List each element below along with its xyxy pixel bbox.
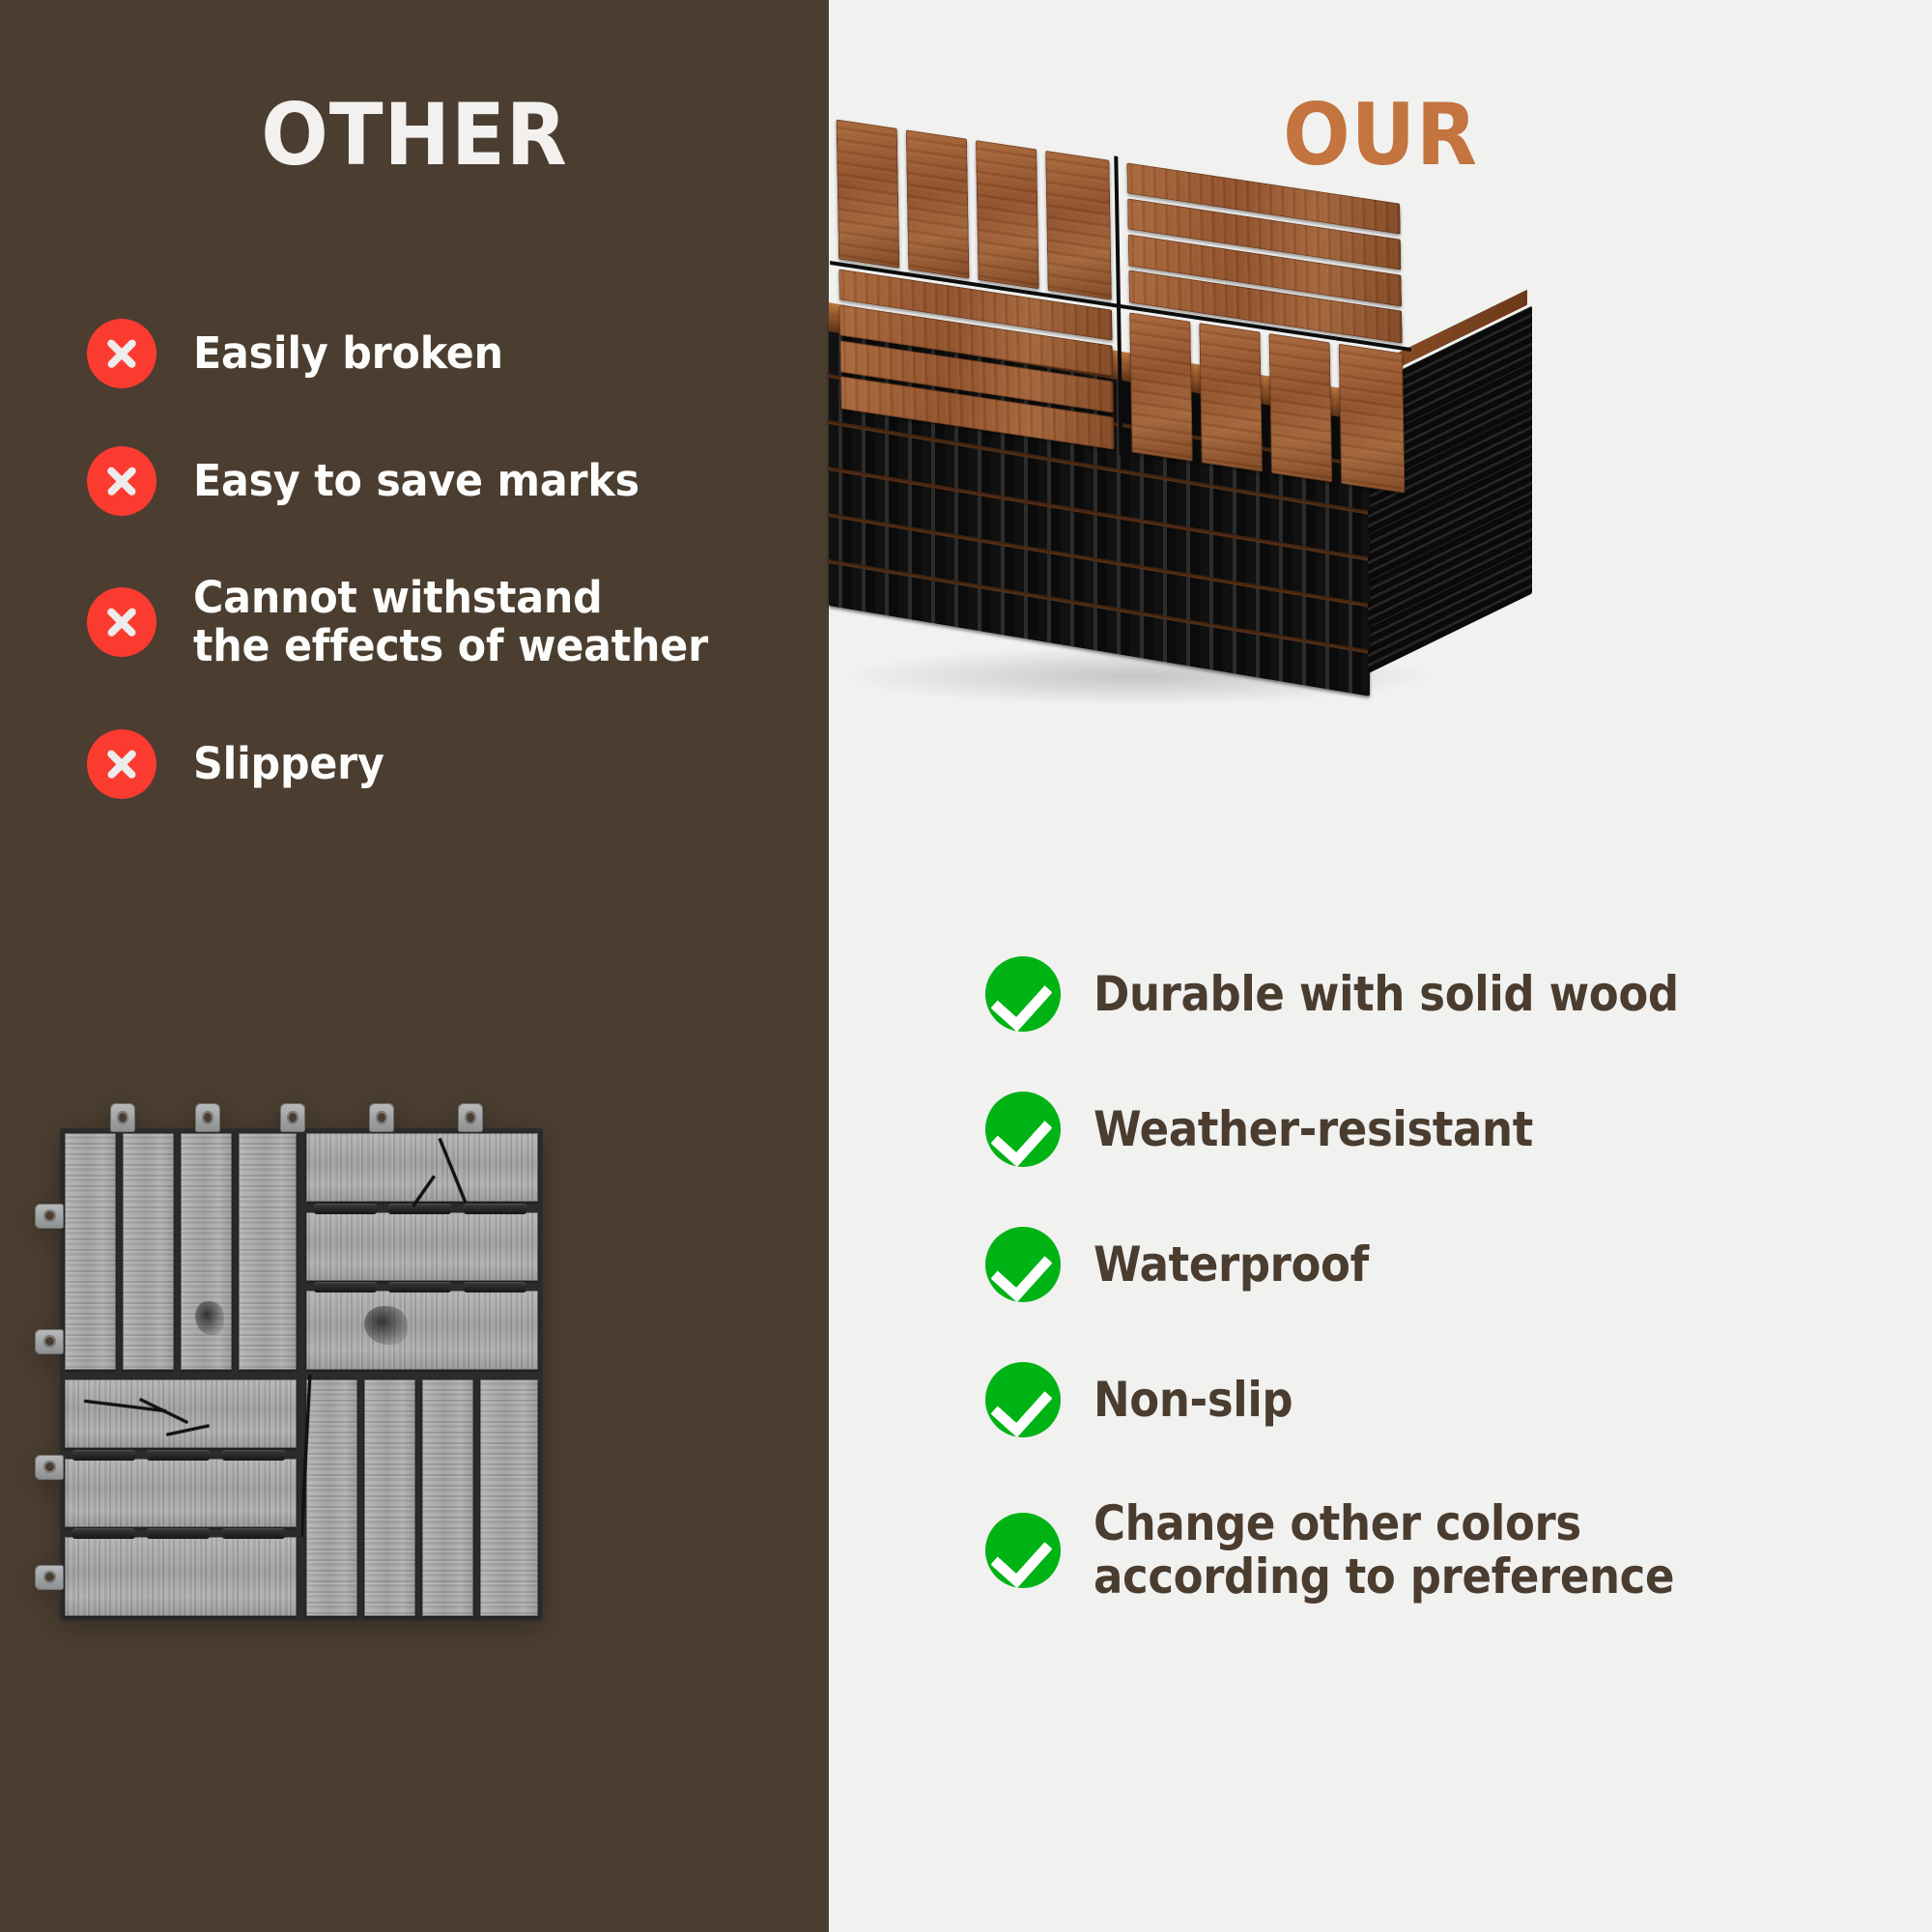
check-circle-icon (985, 956, 1061, 1032)
page-title-other: OTHER (29, 93, 800, 178)
pros-list: Durable with solid wood Weather-resistan… (985, 956, 1932, 1604)
list-item-label: Easily broken (193, 329, 503, 378)
list-item: Weather-resistant (985, 1092, 1932, 1167)
connector-tab (369, 1103, 394, 1132)
cross-circle-icon (87, 319, 156, 388)
connector-tab (35, 1565, 64, 1590)
list-item-label: Slippery (193, 740, 384, 788)
cons-list: Easily broken Easy to save marks Cannot … (87, 319, 753, 799)
list-item: Slippery (87, 729, 753, 799)
list-item-label: Waterproof (1094, 1238, 1369, 1292)
list-item-label-line1: Change other colors (1094, 1495, 1581, 1551)
list-item: Easy to save marks (87, 446, 753, 516)
connector-tab (195, 1103, 220, 1132)
list-item-label: Cannot withstand the effects of weather (193, 574, 708, 671)
list-item-label: Non-slip (1094, 1374, 1293, 1427)
list-item-label: Durable with solid wood (1094, 968, 1679, 1021)
list-item: Durable with solid wood (985, 956, 1932, 1032)
cross-circle-icon (87, 587, 156, 657)
left-panel-other: OTHER Easily broken Easy to save marks C… (0, 0, 829, 1932)
connector-tab (35, 1455, 64, 1480)
cross-circle-icon (87, 729, 156, 799)
list-item: Cannot withstand the effects of weather (87, 574, 753, 671)
weathered-gray-deck-tile-photo (60, 1128, 543, 1621)
brown-acacia-deck-tile-stack-photo (810, 213, 1544, 696)
connector-tab (280, 1103, 305, 1132)
check-circle-icon (985, 1513, 1061, 1588)
list-item-label: Easy to save marks (193, 457, 639, 505)
list-item-label-line1: Cannot withstand (193, 572, 603, 623)
list-item-label-line2: the effects of weather (193, 620, 708, 671)
list-item-label: Change other colors according to prefere… (1094, 1497, 1674, 1604)
list-item: Non-slip (985, 1362, 1932, 1437)
check-circle-icon (985, 1227, 1061, 1302)
list-item: Change other colors according to prefere… (985, 1497, 1932, 1604)
right-panel-our: OUR (829, 0, 1932, 1932)
check-circle-icon (985, 1362, 1061, 1437)
check-circle-icon (985, 1092, 1061, 1167)
cross-circle-icon (87, 446, 156, 516)
list-item-label: Weather-resistant (1094, 1103, 1533, 1156)
list-item: Waterproof (985, 1227, 1932, 1302)
list-item-label-line2: according to preference (1094, 1548, 1674, 1605)
connector-tab (35, 1204, 64, 1229)
list-item: Easily broken (87, 319, 753, 388)
connector-tab (110, 1103, 135, 1132)
connector-tab (35, 1329, 64, 1354)
connector-tab (458, 1103, 483, 1132)
comparison-infographic: OTHER Easily broken Easy to save marks C… (0, 0, 1932, 1932)
